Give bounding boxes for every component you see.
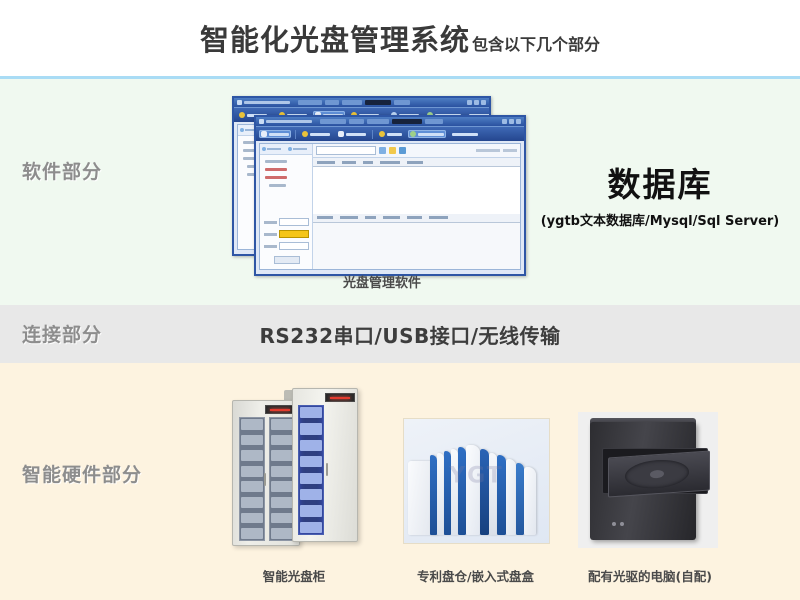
- hardware-caption-0: 智能光盘柜: [218, 566, 370, 585]
- photo-watermark: YGT: [449, 464, 504, 489]
- nav-tree-front[interactable]: [260, 155, 312, 187]
- nav-tab-2[interactable]: [286, 144, 312, 154]
- section-label-connection: 连接部分: [22, 320, 102, 347]
- window-title-fields: [298, 100, 467, 105]
- toolbar-button-6[interactable]: [450, 132, 480, 137]
- form-field-3[interactable]: [264, 242, 309, 250]
- maximize-icon: [509, 119, 514, 124]
- disc-hub: [650, 470, 664, 479]
- toolbar-button-1-selected[interactable]: [259, 130, 291, 138]
- maximize-icon: [474, 100, 479, 105]
- close-icon: [516, 119, 521, 124]
- database-subtitle: (ygtb文本数据库/Mysql/Sql Server): [520, 210, 800, 229]
- content-pane-front: [313, 144, 520, 269]
- search-bar-front[interactable]: [313, 144, 520, 158]
- photo-disc-cabinet: [218, 382, 370, 554]
- disc-well: [625, 458, 689, 490]
- form-field-2-highlighted[interactable]: [264, 230, 309, 238]
- software-screenshot-caption: 光盘管理软件: [232, 272, 532, 291]
- form-field-1[interactable]: [264, 218, 309, 226]
- close-icon: [481, 100, 486, 105]
- window-titlebar-back: [234, 98, 489, 107]
- cabinet-handle-right: [326, 463, 328, 476]
- window-titlebar-front: [256, 117, 524, 126]
- photo-disc-trays: YGT: [403, 418, 550, 544]
- toolbar-separator: [295, 130, 296, 139]
- window-controls-front[interactable]: [502, 119, 521, 124]
- window-app-icon: [237, 100, 242, 105]
- optical-drive-tray[interactable]: [608, 450, 710, 497]
- minimize-icon: [467, 100, 472, 105]
- page-subtitle: 包含以下几个部分: [472, 31, 600, 55]
- window-toolbar-front[interactable]: [256, 126, 524, 141]
- hardware-caption-1: 专利盘仓/嵌入式盘盒: [398, 566, 553, 585]
- minimize-icon: [502, 119, 507, 124]
- search-input-front: [316, 146, 376, 155]
- navigation-pane-front[interactable]: [260, 144, 313, 269]
- slide-root: 智能化光盘管理系统 包含以下几个部分 软件部分: [0, 0, 800, 600]
- connection-methods-text: RS232串口/USB接口/无线传输: [200, 320, 620, 349]
- folder-icon: [389, 147, 396, 154]
- table-header-front: [313, 158, 520, 167]
- nav-tabs-front[interactable]: [260, 144, 312, 155]
- cabinet-led-display-right: [325, 393, 355, 402]
- cabinet-left: [232, 400, 300, 546]
- cabinet-led-display-left: [265, 405, 295, 414]
- disc-icon: [399, 147, 406, 154]
- section-label-hardware: 智能硬件部分: [22, 460, 142, 487]
- cabinet-right: [292, 388, 358, 542]
- page-title: 智能化光盘管理系统: [200, 17, 470, 59]
- detail-form-front[interactable]: [260, 218, 312, 269]
- nav-tab-1[interactable]: [260, 144, 286, 154]
- toolbar-button-4[interactable]: [377, 130, 404, 138]
- window-app-icon: [259, 119, 264, 124]
- header-title-group: 智能化光盘管理系统 包含以下几个部分: [200, 17, 600, 59]
- database-block: 数据库 (ygtb文本数据库/Mysql/Sql Server): [520, 158, 800, 229]
- photo-pc-with-optical-drive: [578, 412, 718, 548]
- dropdown-icon: [379, 147, 386, 154]
- cabinet-glass-door-left-1: [239, 417, 265, 541]
- pc-front-leds: [612, 522, 624, 526]
- cabinet-glass-door-right-lit: [298, 405, 324, 535]
- form-submit-button[interactable]: [274, 256, 300, 264]
- page-header: 智能化光盘管理系统 包含以下几个部分: [0, 0, 800, 76]
- window-title-text: [266, 120, 312, 123]
- table-body-front-upper[interactable]: [313, 167, 520, 214]
- toolbar-separator: [372, 130, 373, 139]
- table-body-front-lower[interactable]: [313, 223, 520, 270]
- toolbar-button-3[interactable]: [336, 130, 368, 138]
- hardware-caption-2: 配有光驱的电脑(自配): [570, 566, 730, 585]
- toolbar-button-5-selected[interactable]: [408, 130, 446, 138]
- software-screenshots: [232, 96, 532, 271]
- database-title: 数据库: [520, 158, 800, 206]
- window-controls-back[interactable]: [467, 100, 486, 105]
- section-label-software: 软件部分: [22, 157, 102, 184]
- table-header-front-lower: [313, 214, 520, 223]
- toolbar-button-2[interactable]: [300, 130, 332, 138]
- window-title-fields: [320, 119, 502, 124]
- window-body-front: [259, 143, 521, 270]
- cabinet-handle-left: [264, 473, 266, 486]
- window-title-text: [244, 101, 290, 104]
- app-window-front[interactable]: [254, 115, 526, 276]
